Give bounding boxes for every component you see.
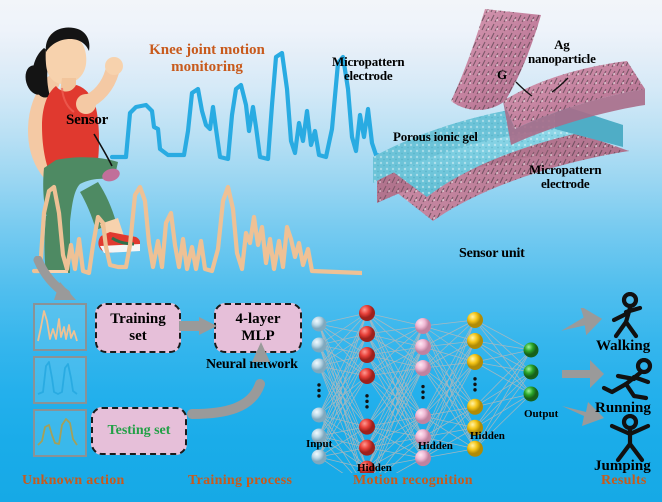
unknown-action-caption: Unknown action <box>22 473 125 489</box>
jumping-figure-icon <box>600 414 662 462</box>
thumb-trace-olive <box>35 411 81 451</box>
network-node-hidden-1 <box>359 305 375 321</box>
training-process-caption: Training process <box>188 473 292 489</box>
network-node-hidden-1 <box>359 368 375 384</box>
network-node-hidden-3 <box>467 333 483 349</box>
network-node-input <box>312 338 327 353</box>
thumbnail-unknown-2[interactable] <box>33 356 87 404</box>
network-node-output <box>524 387 539 402</box>
micropattern-electrode-bottom-label: Micropattern electrode <box>529 163 601 191</box>
result-label-walking: Walking <box>596 338 650 355</box>
layer-label-input: Input <box>306 438 332 450</box>
network-node-input <box>312 359 327 374</box>
network-node-output <box>524 365 539 380</box>
network-node-input <box>312 317 327 332</box>
training-to-mlp-arrow <box>177 315 219 339</box>
layer-label-hidden-3: Hidden <box>470 430 505 442</box>
network-node-hidden-3 <box>467 354 483 370</box>
thumbnail-unknown-3[interactable] <box>33 409 87 457</box>
network-node-hidden-2 <box>415 408 431 424</box>
testing-set-box[interactable]: Testing set <box>91 407 187 455</box>
porous-ionic-gel-label: Porous ionic gel <box>393 130 478 144</box>
sensor-unit-caption: Sensor unit <box>459 246 525 261</box>
motion-recognition-caption: Motion recognition <box>353 473 473 489</box>
thumb-trace-blue <box>35 358 81 398</box>
network-node-hidden-1 <box>359 440 375 456</box>
network-node-hidden-3 <box>467 312 483 328</box>
layer-label-output: Output <box>524 408 558 420</box>
layer-label-hidden-2: Hidden <box>418 440 453 452</box>
sensor-label: Sensor <box>66 112 108 128</box>
network-node-hidden-2 <box>415 450 431 466</box>
network-node-hidden-2 <box>415 339 431 355</box>
network-node-hidden-1 <box>359 326 375 342</box>
results-caption: Results <box>601 473 647 489</box>
network-node-output <box>524 343 539 358</box>
network-node-hidden-1 <box>359 347 375 363</box>
sensor-label-leaders <box>490 60 610 110</box>
thumb-trace-orange <box>35 305 81 345</box>
figure-canvas: Sensor Knee joint motion monitoring <box>0 0 662 502</box>
thumbnail-unknown-1[interactable] <box>33 303 87 351</box>
network-node-hidden-2 <box>415 318 431 334</box>
network-node-input <box>312 449 327 464</box>
testing-to-mlp-arrow <box>186 340 282 422</box>
network-node-input <box>312 407 327 422</box>
network-node-hidden-3 <box>467 399 483 415</box>
network-node-hidden-3 <box>467 441 483 457</box>
knee-monitoring-title: Knee joint motion monitoring <box>122 42 292 75</box>
walking-figure-icon <box>600 292 660 342</box>
training-set-box[interactable]: Training set <box>95 303 181 353</box>
network-node-hidden-2 <box>415 360 431 376</box>
micropattern-electrode-top-label: Micropattern electrode <box>332 55 404 83</box>
network-node-hidden-1 <box>359 419 375 435</box>
